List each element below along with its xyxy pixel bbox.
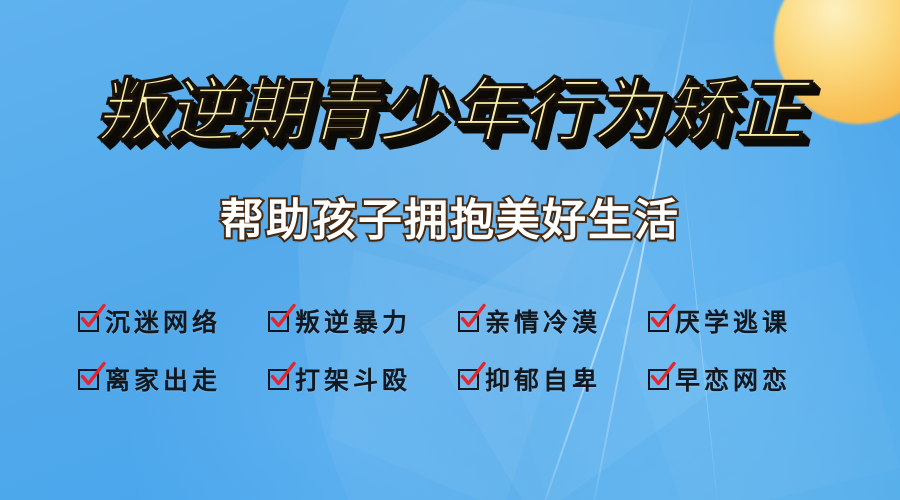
checklist-item[interactable]: 叛逆暴力 bbox=[268, 303, 411, 339]
checkbox-checked-icon[interactable] bbox=[268, 311, 289, 332]
checklist-item[interactable]: 厌学逃课 bbox=[648, 303, 791, 339]
banner-subtitle: 帮助孩子拥抱美好生活 bbox=[0, 199, 900, 243]
checkbox-checked-icon[interactable] bbox=[648, 311, 669, 332]
checklist-item[interactable]: 早恋网恋 bbox=[648, 361, 791, 397]
issue-checklist: 沉迷网络叛逆暴力亲情冷漠厌学逃课离家出走打架斗殴抑郁自卑早恋网恋 bbox=[78, 292, 838, 408]
checkbox-checked-icon[interactable] bbox=[458, 311, 479, 332]
banner-title: 叛逆期青少年行为矫正 bbox=[0, 76, 900, 146]
checklist-item-label: 叛逆暴力 bbox=[295, 303, 411, 339]
promo-banner: 叛逆期青少年行为矫正 帮助孩子拥抱美好生活 沉迷网络叛逆暴力亲情冷漠厌学逃课离家… bbox=[0, 0, 900, 500]
checklist-item-label: 亲情冷漠 bbox=[485, 303, 601, 339]
checklist-item-label: 早恋网恋 bbox=[675, 361, 791, 397]
checkbox-checked-icon[interactable] bbox=[268, 369, 289, 390]
banner-content: 叛逆期青少年行为矫正 帮助孩子拥抱美好生活 沉迷网络叛逆暴力亲情冷漠厌学逃课离家… bbox=[0, 0, 900, 500]
checkbox-checked-icon[interactable] bbox=[648, 369, 669, 390]
checklist-item[interactable]: 离家出走 bbox=[78, 361, 221, 397]
checklist-item[interactable]: 抑郁自卑 bbox=[458, 361, 601, 397]
checklist-item[interactable]: 沉迷网络 bbox=[78, 303, 221, 339]
checklist-item-label: 打架斗殴 bbox=[295, 361, 411, 397]
checklist-item-label: 沉迷网络 bbox=[105, 303, 221, 339]
checklist-item-label: 离家出走 bbox=[105, 361, 221, 397]
checkbox-checked-icon[interactable] bbox=[78, 311, 99, 332]
checkbox-checked-icon[interactable] bbox=[458, 369, 479, 390]
checklist-item[interactable]: 亲情冷漠 bbox=[458, 303, 601, 339]
checklist-item[interactable]: 打架斗殴 bbox=[268, 361, 411, 397]
checklist-item-label: 抑郁自卑 bbox=[485, 361, 601, 397]
checklist-item-label: 厌学逃课 bbox=[675, 303, 791, 339]
checkbox-checked-icon[interactable] bbox=[78, 369, 99, 390]
